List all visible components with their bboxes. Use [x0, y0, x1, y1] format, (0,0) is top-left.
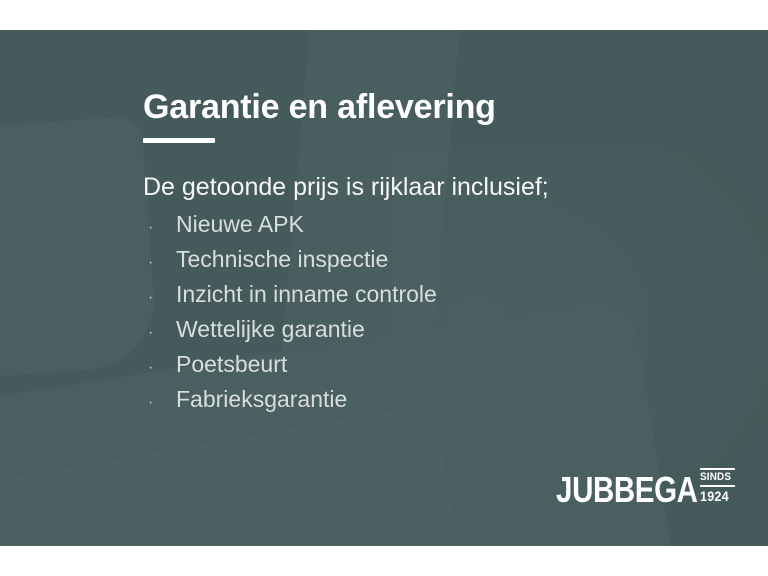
title-underline-accent — [143, 138, 215, 143]
list-item-label: Inzicht in inname controle — [176, 277, 437, 312]
list-item-label: Nieuwe APK — [176, 207, 304, 242]
bullet-dot-icon: · — [148, 360, 176, 376]
bullet-dot-icon: · — [148, 255, 176, 271]
list-item: · Nieuwe APK — [143, 207, 723, 242]
bullet-dot-icon: · — [148, 220, 176, 236]
logo-since-label: SINDS — [700, 470, 731, 485]
page-title: Garantie en aflevering — [143, 90, 723, 126]
list-item-label: Fabrieksgarantie — [176, 382, 347, 417]
list-item-label: Technische inspectie — [176, 242, 388, 277]
logo-since-year: 1924 — [700, 487, 731, 503]
bullet-dot-icon: · — [148, 395, 176, 411]
list-item: · Technische inspectie — [143, 242, 723, 277]
list-item: · Inzicht in inname controle — [143, 277, 723, 312]
slide-canvas: Garantie en aflevering De getoonde prijs… — [0, 30, 768, 546]
list-item: · Poetsbeurt — [143, 347, 723, 382]
list-item: · Wettelijke garantie — [143, 312, 723, 347]
bullet-dot-icon: · — [148, 325, 176, 341]
list-item: · Fabrieksgarantie — [143, 382, 723, 417]
logo-since-block: SINDS 1924 — [700, 468, 735, 503]
decorative-shape-lower-band-2 — [0, 403, 476, 546]
slide-frame: Garantie en aflevering De getoonde prijs… — [0, 0, 768, 576]
list-item-label: Poetsbeurt — [176, 347, 287, 382]
decorative-shape-left — [0, 115, 158, 378]
brand-logo: JUBBEGA SINDS 1924 — [525, 468, 735, 504]
feature-list: · Nieuwe APK · Technische inspectie · In… — [143, 207, 723, 417]
bullet-dot-icon: · — [148, 290, 176, 306]
logo-wordmark: JUBBEGA — [556, 476, 697, 504]
list-item-label: Wettelijke garantie — [176, 312, 365, 347]
slide-content: Garantie en aflevering De getoonde prijs… — [143, 90, 723, 417]
intro-text: De getoonde prijs is rijklaar inclusief; — [143, 173, 723, 202]
